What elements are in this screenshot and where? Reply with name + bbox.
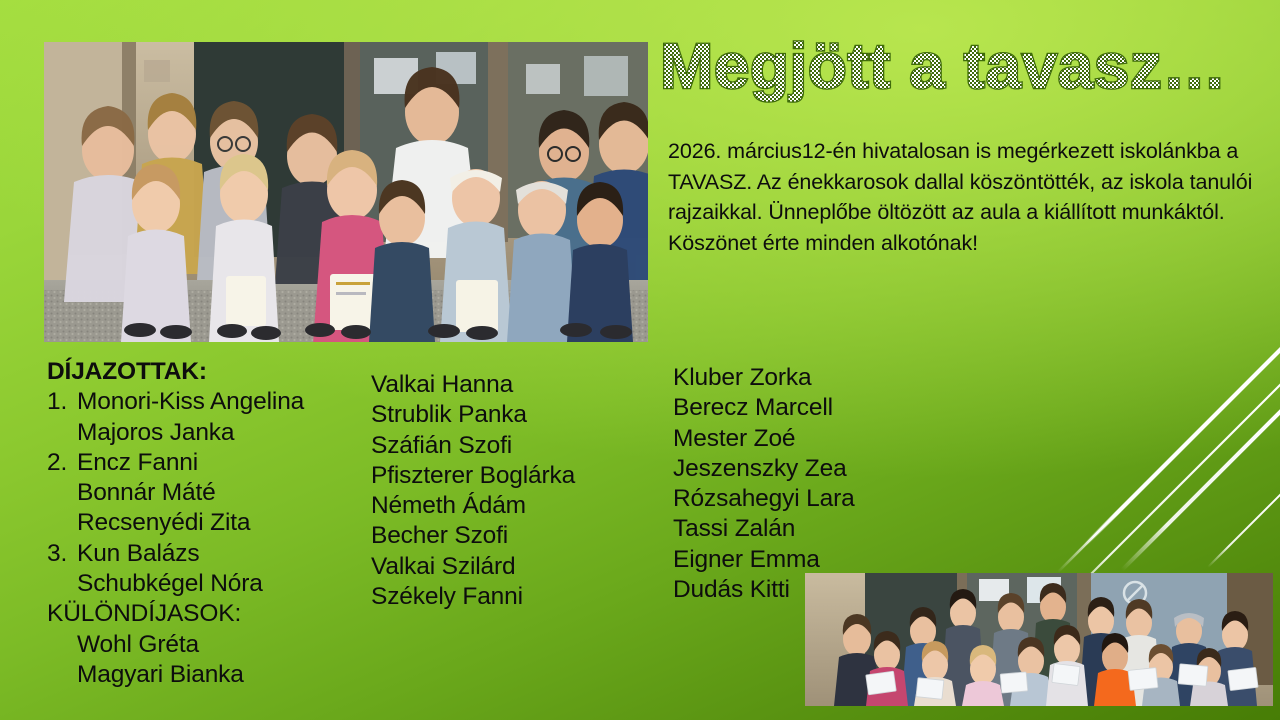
special-award-name: Magyari Bianka <box>47 660 367 690</box>
title-wordart: Megjött a tavasz… <box>660 28 1260 106</box>
participant-name: Becher Szofi <box>371 521 661 551</box>
award-place-1-line-1: 1.Monori-Kiss Angelina <box>47 387 367 417</box>
award-winner-name: Encz Fanni <box>77 449 198 476</box>
participant-name: Tassi Zalán <box>673 514 963 544</box>
award-winner-name: Bonnár Máté <box>47 478 367 508</box>
participant-name: Németh Ádám <box>371 491 661 521</box>
award-winner-name: Recsenyédi Zita <box>47 508 367 538</box>
intro-paragraph-text: 2026. március12-én hivatalosan is megérk… <box>668 136 1274 258</box>
participant-name: Rózsahegyi Lara <box>673 484 963 514</box>
award-place-3-number: 3. <box>47 539 77 569</box>
slide-title: Megjött a tavasz… <box>660 28 1260 106</box>
special-awards-heading: KÜLÖNDÍJASOK: <box>47 599 367 629</box>
participant-name: Strublik Panka <box>371 400 661 430</box>
group-photo-award-winners <box>44 42 648 342</box>
participant-name: Valkai Hanna <box>371 370 661 400</box>
participant-name: Jeszenszky Zea <box>673 454 963 484</box>
participant-name: Székely Fanni <box>371 582 661 612</box>
award-place-3-line-1: 3.Kun Balázs <box>47 539 367 569</box>
participant-name: Eigner Emma <box>673 545 963 575</box>
group-photo-graphic <box>44 42 648 342</box>
participant-name: Pfiszterer Boglárka <box>371 461 661 491</box>
slide-canvas: Megjött a tavasz… 2026. március12-én hiv… <box>0 0 1280 720</box>
intro-paragraph-block: 2026. március12-én hivatalosan is megérk… <box>668 136 1274 258</box>
participant-name: Berecz Marcell <box>673 393 963 423</box>
participants-column-right: Kluber Zorka Berecz Marcell Mester Zoé J… <box>673 363 963 605</box>
award-place-2-number: 2. <box>47 448 77 478</box>
award-winner-name: Majoros Janka <box>47 418 367 448</box>
participant-name: Mester Zoé <box>673 424 963 454</box>
award-winner-name: Schubkégel Nóra <box>47 569 367 599</box>
participant-name: Valkai Szilárd <box>371 552 661 582</box>
participant-name: Dudás Kitti <box>673 575 963 605</box>
awards-heading: DÍJAZOTTAK: <box>47 357 367 387</box>
participant-name: Kluber Zorka <box>673 363 963 393</box>
awards-column: DÍJAZOTTAK: 1.Monori-Kiss Angelina Major… <box>47 357 367 690</box>
award-winner-name: Kun Balázs <box>77 540 199 567</box>
special-award-name: Wohl Gréta <box>47 630 367 660</box>
participants-column-middle: Valkai Hanna Strublik Panka Száfián Szof… <box>371 370 661 612</box>
title-text: Megjött a tavasz… <box>660 30 1227 102</box>
award-place-2-line-1: 2.Encz Fanni <box>47 448 367 478</box>
award-winner-name: Monori-Kiss Angelina <box>77 388 304 415</box>
participant-name: Száfián Szofi <box>371 431 661 461</box>
award-place-1-number: 1. <box>47 387 77 417</box>
